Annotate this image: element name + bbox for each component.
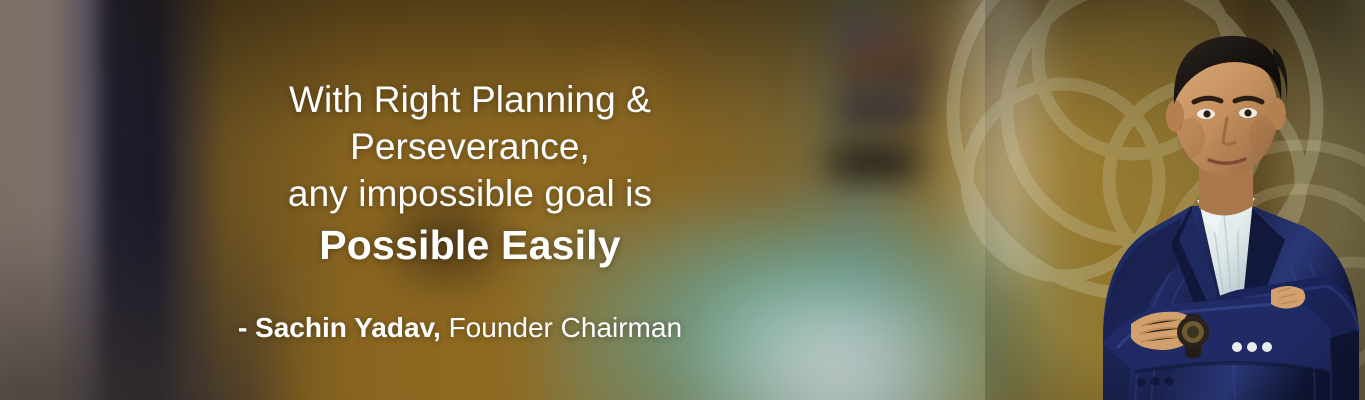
quote-line-emphasis: Possible Easily <box>0 217 940 273</box>
attribution-role: Founder Chairman <box>449 312 682 343</box>
quote-banner: With Right Planning & Perseverance, any … <box>0 0 1365 400</box>
quote-line-3: any impossible goal is <box>0 170 940 217</box>
quote-text: With Right Planning & Perseverance, any … <box>0 76 940 273</box>
attribution-name: - Sachin Yadav, <box>238 312 441 343</box>
quote-line-2: Perseverance, <box>0 123 940 170</box>
quote-line-1: With Right Planning & <box>0 76 940 123</box>
attribution: - Sachin Yadav, Founder Chairman <box>0 310 920 346</box>
